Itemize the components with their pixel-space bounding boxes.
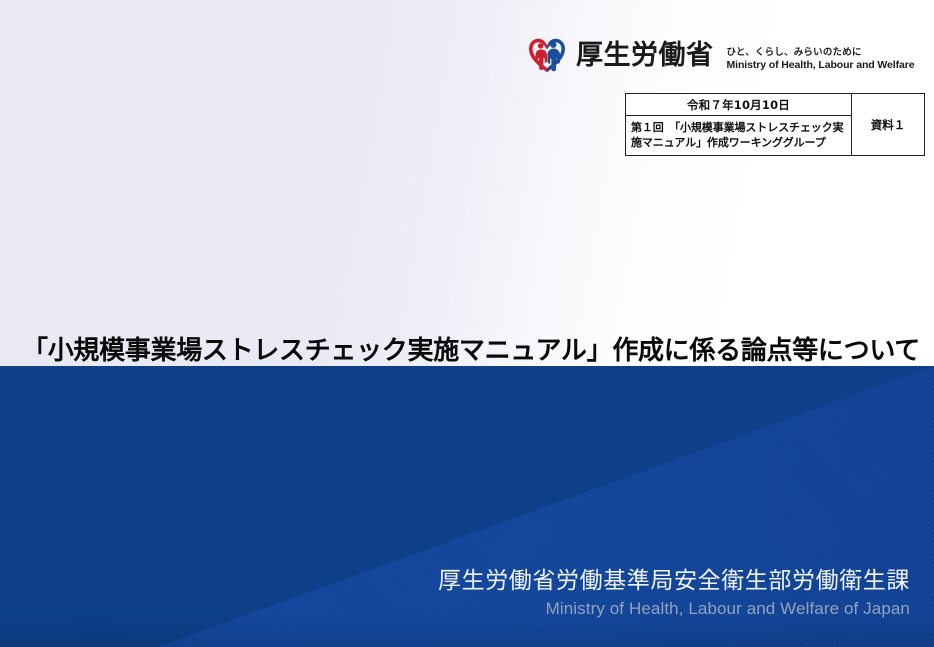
ministry-wordmark: 厚生労働省 <box>576 42 714 69</box>
ministry-tagline-jp: ひと、くらし、みらいのために <box>727 47 915 59</box>
meeting-meta-table: 令和７年10月10日 第１回 「小規模事業場ストレスチェック実施マニュアル」作成… <box>625 93 925 156</box>
ministry-tagline: ひと、くらし、みらいのために Ministry of Health, Labou… <box>727 47 915 72</box>
meeting-name: 第１回 「小規模事業場ストレスチェック実施マニュアル」作成ワーキンググループ <box>626 116 851 155</box>
footer-organization-en: Ministry of Health, Labour and Welfare o… <box>438 599 910 619</box>
meeting-meta-left-column: 令和７年10月10日 第１回 「小規模事業場ストレスチェック実施マニュアル」作成… <box>626 94 852 155</box>
ministry-logo: 厚生労働省 ひと、くらし、みらいのために Ministry of Health,… <box>527 36 914 74</box>
footer-organization: 厚生労働省労働基準局安全衛生部労働衛生課 Ministry of Health,… <box>438 568 910 619</box>
meeting-date: 令和７年10月10日 <box>626 94 851 116</box>
title-slide: 厚生労働省 ひと、くらし、みらいのために Ministry of Health,… <box>0 0 934 647</box>
page-title: 「小規模事業場ストレスチェック実施マニュアル」作成に係る論点等について <box>22 335 912 368</box>
document-number: 資料１ <box>852 94 924 155</box>
mhlw-heart-figures-logo-icon <box>527 36 567 74</box>
footer-organization-jp: 厚生労働省労働基準局安全衛生部労働衛生課 <box>438 568 910 596</box>
ministry-tagline-en: Ministry of Health, Labour and Welfare <box>727 59 915 72</box>
